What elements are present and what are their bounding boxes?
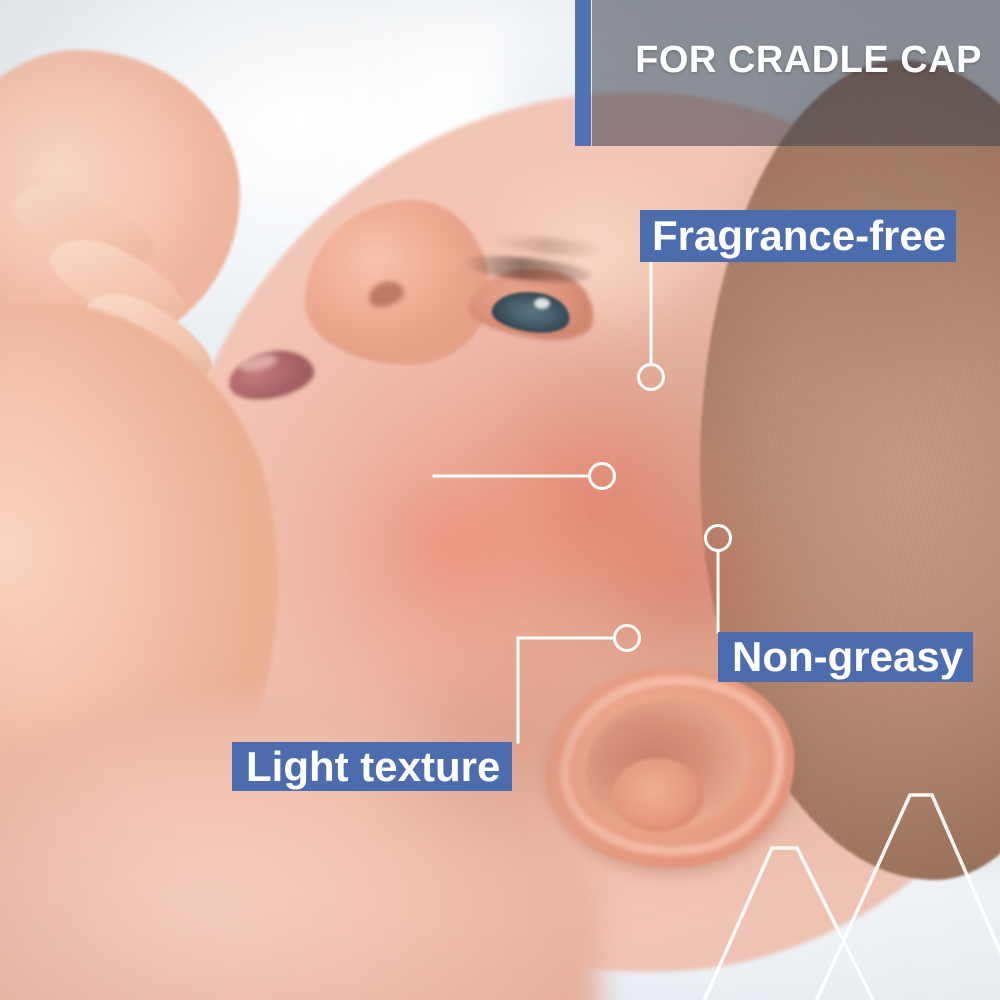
- creative-card: FOR CRADLE CAP Fragrance-free: [0, 0, 1000, 1000]
- callout-label-non-greasy[interactable]: Non-greasy: [718, 632, 973, 682]
- callout-label-light-texture[interactable]: Light texture: [232, 742, 512, 791]
- callout-label-text: Fragrance-free: [652, 215, 946, 257]
- callout-label-text: Non-greasy: [732, 636, 963, 678]
- header-title: FOR CRADLE CAP: [635, 41, 982, 79]
- callout-label-fragrance-free[interactable]: Fragrance-free: [640, 210, 956, 262]
- header-accent-bar: [575, 0, 591, 146]
- background-photo: [0, 0, 1000, 1000]
- callout-label-text: Light texture: [246, 746, 500, 788]
- photo-vignette: [0, 0, 1000, 1000]
- header-band: FOR CRADLE CAP: [592, 0, 1000, 146]
